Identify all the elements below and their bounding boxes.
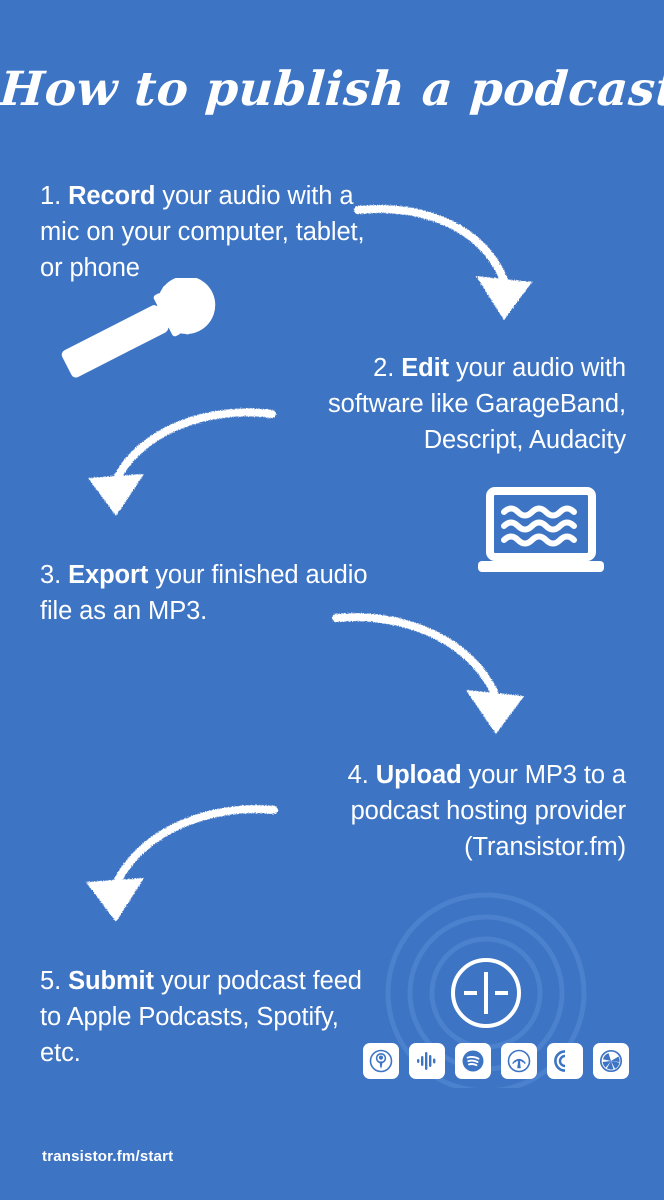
step-4-text: 4. Upload your MP3 to a podcast hosting …	[296, 757, 626, 865]
microphone-illustration	[40, 278, 230, 388]
infographic-poster: How to publish a podcast 1. Record your …	[0, 0, 664, 1200]
step-2-text: 2. Edit your audio with software like Ga…	[296, 350, 626, 458]
step-5-number: 5.	[40, 967, 61, 995]
platform-icons-row	[363, 1043, 629, 1079]
apple-podcasts-icon[interactable]	[363, 1043, 399, 1079]
step-1-action: Record	[68, 182, 155, 210]
arrow-step1-to-step2	[352, 188, 572, 338]
step-5-text: 5. Submit your podcast feed to Apple Pod…	[40, 963, 380, 1071]
step-3-action: Export	[68, 561, 148, 589]
arrow-step3-to-step4	[328, 598, 558, 748]
step-2-number: 2.	[373, 354, 394, 382]
iheartradio-icon[interactable]	[501, 1043, 537, 1079]
step-1-number: 1.	[40, 182, 61, 210]
footer-url[interactable]: transistor.fm/start	[42, 1148, 173, 1165]
step-4-number: 4.	[348, 761, 369, 789]
page-title: How to publish a podcast	[0, 62, 664, 117]
step-5-action: Submit	[68, 967, 154, 995]
laptop-waveform-illustration	[476, 487, 606, 584]
pocket-casts-icon[interactable]	[547, 1043, 583, 1079]
overcast-icon[interactable]	[593, 1043, 629, 1079]
spotify-icon[interactable]	[455, 1043, 491, 1079]
step-3-number: 3.	[40, 561, 61, 589]
step-1-text: 1. Record your audio with a mic on your …	[40, 178, 380, 286]
arrow-step2-to-step3	[72, 388, 292, 528]
step-4-action: Upload	[376, 761, 462, 789]
google-podcasts-icon[interactable]	[409, 1043, 445, 1079]
step-2-action: Edit	[401, 354, 449, 382]
arrow-step4-to-step5	[68, 788, 298, 938]
